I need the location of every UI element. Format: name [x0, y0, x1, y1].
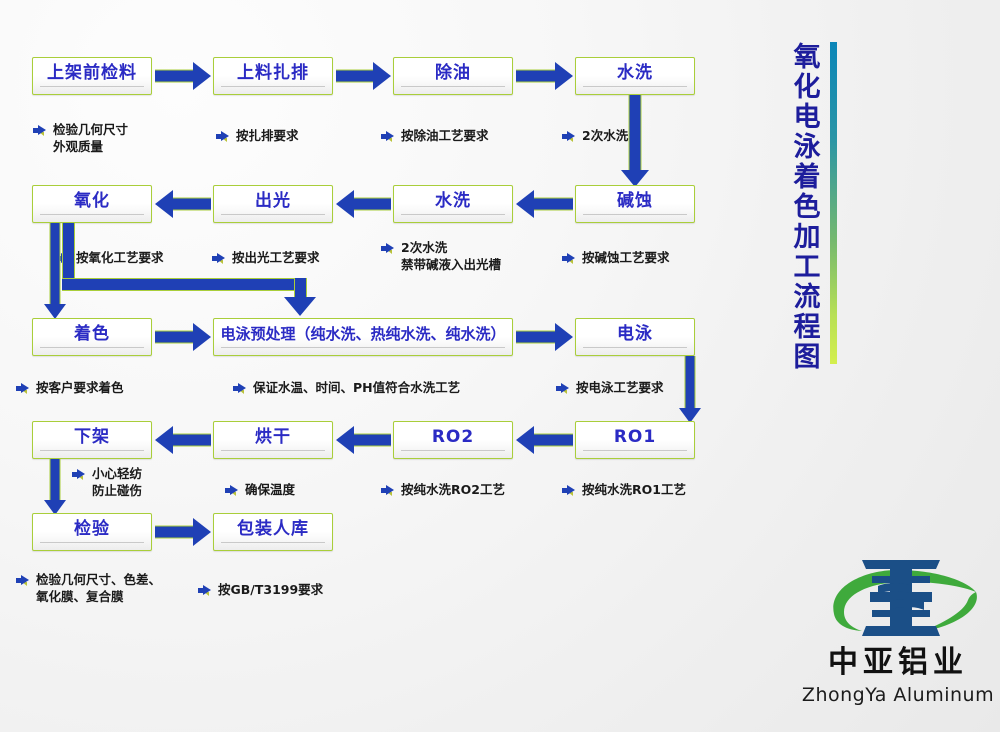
- bullet-arrow-icon: [381, 485, 394, 496]
- page-title: 氧化电泳着色加工流程图: [790, 42, 818, 372]
- connector-arrow-left: [155, 188, 211, 220]
- process-node-shangjiaqianjianliao[interactable]: 上架前检料: [32, 57, 152, 95]
- process-node-chuyou[interactable]: 除油: [393, 57, 513, 95]
- connector-arrow-down: [677, 356, 703, 423]
- note-text: 按客户要求着色: [36, 380, 124, 397]
- connector-arrow-left: [155, 424, 211, 456]
- node-label: 氧化: [74, 193, 110, 210]
- note-text: 2次水洗: [582, 128, 628, 145]
- node-label: 着色: [74, 326, 110, 343]
- note-text: 2次水洗 禁带碱液入出光槽: [401, 240, 501, 274]
- logo-name-en: ZhongYa Aluminum: [800, 684, 996, 706]
- note-item: 按碱蚀工艺要求: [562, 250, 722, 267]
- node-label: 下架: [74, 429, 110, 446]
- note-item: 2次水洗: [562, 128, 682, 145]
- connector-arrow-left: [516, 424, 573, 456]
- connector-elbow-down-right-down: [62, 223, 322, 319]
- note-item: 检验几何尺寸 外观质量: [33, 122, 193, 156]
- bullet-arrow-icon: [72, 469, 85, 480]
- company-logo: 中亚铝业 ZhongYa Aluminum: [800, 552, 996, 720]
- node-label: 包装人库: [237, 521, 309, 538]
- note-text: 保证水温、时间、PH值符合水洗工艺: [253, 380, 460, 397]
- note-text: 按除油工艺要求: [401, 128, 489, 145]
- note-text: 按扎排要求: [236, 128, 299, 145]
- note-item: 按GB/T3199要求: [198, 582, 358, 599]
- connector-arrow-right: [155, 321, 211, 353]
- process-node-hongan[interactable]: 烘干: [213, 421, 333, 459]
- bullet-arrow-icon: [562, 485, 575, 496]
- process-node-dianyong[interactable]: 电泳: [575, 318, 695, 356]
- note-item: 按纯水洗RO2工艺: [381, 482, 551, 499]
- note-text: 小心轻纺 防止碰伤: [92, 466, 142, 500]
- note-text: 按纯水洗RO2工艺: [401, 482, 505, 499]
- bullet-arrow-icon: [556, 383, 569, 394]
- process-node-shuixi-2[interactable]: 水洗: [393, 185, 513, 223]
- process-node-chuguang[interactable]: 出光: [213, 185, 333, 223]
- node-label: 电泳: [617, 326, 653, 343]
- process-node-shangliaozhapai[interactable]: 上料扎排: [213, 57, 333, 95]
- process-node-dianyongyuchuli[interactable]: 电泳预处理（纯水洗、热纯水洗、纯水洗）: [213, 318, 513, 356]
- process-node-shuixi-1[interactable]: 水洗: [575, 57, 695, 95]
- process-node-yanghua[interactable]: 氧化: [32, 185, 152, 223]
- connector-arrow-right: [516, 60, 573, 92]
- bullet-arrow-icon: [381, 243, 394, 254]
- note-item: 按扎排要求: [216, 128, 366, 145]
- process-node-ro1[interactable]: RO1: [575, 421, 695, 459]
- node-label: 碱蚀: [617, 193, 653, 210]
- note-item: 按除油工艺要求: [381, 128, 541, 145]
- bullet-arrow-icon: [16, 575, 29, 586]
- connector-arrow-right: [155, 60, 211, 92]
- note-text: 确保温度: [245, 482, 295, 499]
- note-item: 检验几何尺寸、色差、 氧化膜、复合膜: [16, 572, 206, 606]
- note-item: 按纯水洗RO1工艺: [562, 482, 732, 499]
- bullet-arrow-icon: [233, 383, 246, 394]
- process-node-jianshi[interactable]: 碱蚀: [575, 185, 695, 223]
- node-label: 水洗: [435, 193, 471, 210]
- node-label: 上料扎排: [237, 65, 309, 82]
- process-node-baozhuangruku[interactable]: 包装人库: [213, 513, 333, 551]
- node-label: RO1: [614, 429, 656, 446]
- bullet-arrow-icon: [198, 585, 211, 596]
- bullet-arrow-icon: [216, 131, 229, 142]
- note-text: 按电泳工艺要求: [576, 380, 664, 397]
- note-text: 检验几何尺寸、色差、 氧化膜、复合膜: [36, 572, 161, 606]
- node-label: 上架前检料: [47, 65, 137, 82]
- note-item: 按客户要求着色: [16, 380, 186, 397]
- logo-mark-icon: [800, 552, 996, 652]
- logo-name-cn: 中亚铝业: [800, 648, 996, 678]
- connector-arrow-left: [516, 188, 573, 220]
- node-label: 水洗: [617, 65, 653, 82]
- flowchart-canvas: 上架前检料 上料扎排 除油 水洗 检验几何尺寸 外观质量 按扎排要求 按除油工艺…: [0, 0, 1000, 732]
- connector-arrow-down: [42, 459, 68, 515]
- bullet-arrow-icon: [16, 383, 29, 394]
- note-item: 保证水温、时间、PH值符合水洗工艺: [233, 380, 543, 397]
- note-text: 按纯水洗RO1工艺: [582, 482, 686, 499]
- node-label: 烘干: [255, 429, 291, 446]
- note-text: 按GB/T3199要求: [218, 582, 323, 599]
- node-label: 除油: [435, 65, 471, 82]
- bullet-arrow-icon: [562, 131, 575, 142]
- node-label: 电泳预处理（纯水洗、热纯水洗、纯水洗）: [220, 327, 505, 342]
- bullet-arrow-icon: [562, 253, 575, 264]
- note-text: 检验几何尺寸 外观质量: [53, 122, 128, 156]
- bullet-arrow-icon: [225, 485, 238, 496]
- note-text: 按碱蚀工艺要求: [582, 250, 670, 267]
- note-item: 确保温度: [225, 482, 365, 499]
- title-accent-bar: [830, 42, 837, 364]
- connector-arrow-right: [155, 516, 211, 548]
- process-node-xiajia[interactable]: 下架: [32, 421, 152, 459]
- node-label: RO2: [432, 429, 474, 446]
- bullet-arrow-icon: [381, 131, 394, 142]
- chart-title-group: 氧化电泳着色加工流程图: [790, 42, 837, 372]
- process-node-zhuose[interactable]: 着色: [32, 318, 152, 356]
- node-label: 检验: [74, 521, 110, 538]
- note-item: 2次水洗 禁带碱液入出光槽: [381, 240, 556, 274]
- connector-arrow-left: [336, 188, 391, 220]
- connector-arrow-left: [336, 424, 391, 456]
- bullet-arrow-icon: [33, 125, 46, 136]
- process-node-ro2[interactable]: RO2: [393, 421, 513, 459]
- node-label: 出光: [255, 193, 291, 210]
- process-node-jianyan[interactable]: 检验: [32, 513, 152, 551]
- connector-arrow-right: [516, 321, 573, 353]
- connector-arrow-right: [336, 60, 391, 92]
- note-item: 小心轻纺 防止碰伤: [72, 466, 192, 500]
